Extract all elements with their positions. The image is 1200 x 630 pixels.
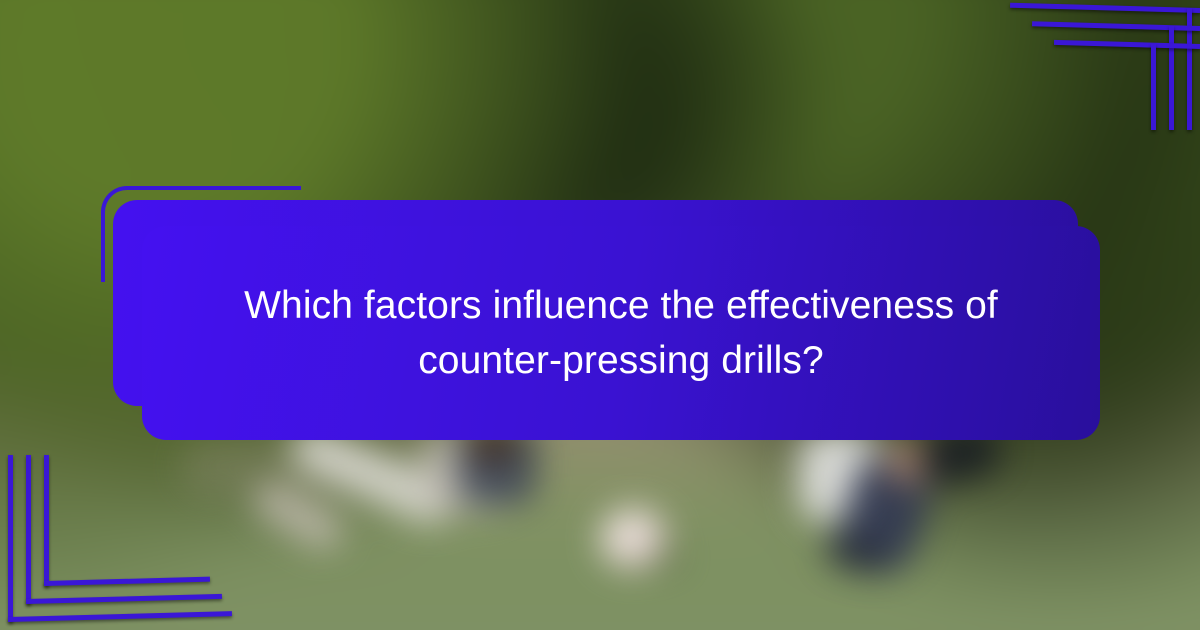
soccer-ball: [600, 508, 668, 570]
question-text: Which factors influence the effectivenes…: [142, 278, 1100, 389]
question-line-1: Which factors influence the effectivenes…: [244, 284, 998, 327]
question-card: Which factors influence the effectivenes…: [142, 226, 1100, 440]
question-line-2: counter-pressing drills?: [418, 339, 824, 382]
poster-canvas: Which factors influence the effectivenes…: [0, 0, 1200, 630]
